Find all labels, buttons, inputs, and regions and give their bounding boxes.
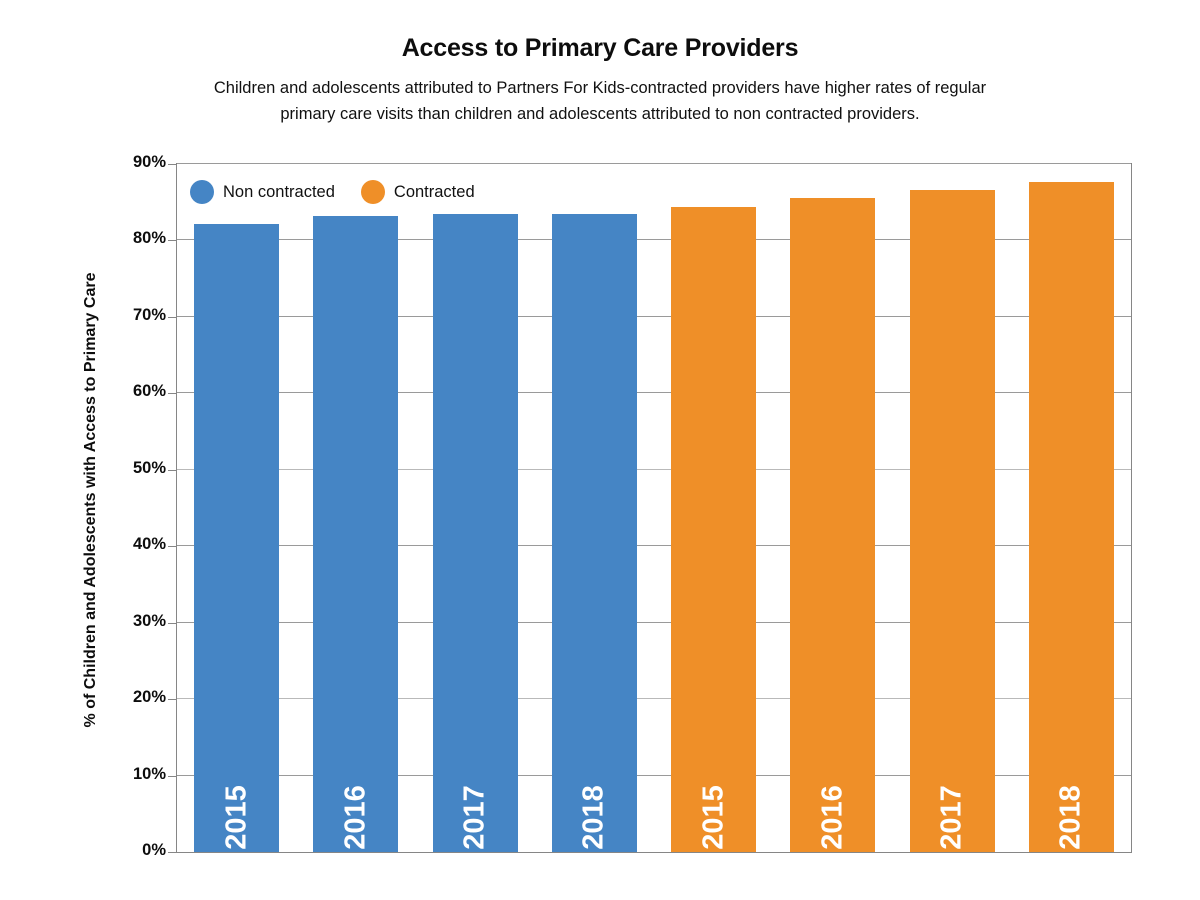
y-axis-tick-label: 20% [48,688,166,707]
legend-item-non-contracted[interactable]: Non contracted [190,180,335,204]
bar[interactable]: 2016 [790,198,875,852]
y-axis-tick-label: 0% [48,841,166,860]
bar[interactable]: 2015 [194,224,279,852]
y-axis-tickmark [168,470,176,471]
y-axis-tickmark [168,776,176,777]
bar[interactable]: 2016 [313,216,398,852]
y-axis-tickmark [168,546,176,547]
y-axis-tickmark [168,852,176,853]
y-axis-tick-label: 10% [48,765,166,784]
y-axis-tick-label: 40% [48,535,166,554]
chart-legend: Non contractedContracted [190,180,475,204]
y-axis-tickmark [168,623,176,624]
legend-label: Non contracted [223,183,335,202]
bar-year-label: 2017 [459,785,492,850]
y-axis-tick-label: 50% [48,459,166,478]
y-axis-tickmark [168,393,176,394]
circle-marker-orange-icon [361,180,385,204]
y-axis-tick-label: 30% [48,612,166,631]
bar[interactable]: 2015 [671,207,756,852]
bar-year-label: 2015 [697,785,730,850]
chart-container: % of Children and Adolescents with Acces… [0,0,1200,900]
bar[interactable]: 2018 [552,214,637,852]
bar-year-label: 2018 [1055,785,1088,850]
y-axis-tick-label: 60% [48,382,166,401]
y-axis-tickmark [168,699,176,700]
bar-year-label: 2016 [339,785,372,850]
y-axis-tick-label: 90% [48,153,166,172]
bar[interactable]: 2017 [910,190,995,852]
y-axis-tick-label: 80% [48,229,166,248]
bar-year-label: 2015 [220,785,253,850]
bars-layer: 20152016201720182015201620172018 [177,164,1131,852]
bar-year-label: 2017 [936,785,969,850]
bar[interactable]: 2017 [433,214,518,852]
y-axis-tick-label: 70% [48,306,166,325]
bar-year-label: 2016 [816,785,849,850]
bar[interactable]: 2018 [1029,182,1114,852]
y-axis-tickmark [168,164,176,165]
circle-marker-blue-icon [190,180,214,204]
y-axis-title: % of Children and Adolescents with Acces… [82,200,100,800]
legend-label: Contracted [394,183,475,202]
bar-year-label: 2018 [578,785,611,850]
y-axis-tickmark [168,240,176,241]
legend-item-contracted[interactable]: Contracted [361,180,475,204]
y-axis-tickmark [168,317,176,318]
